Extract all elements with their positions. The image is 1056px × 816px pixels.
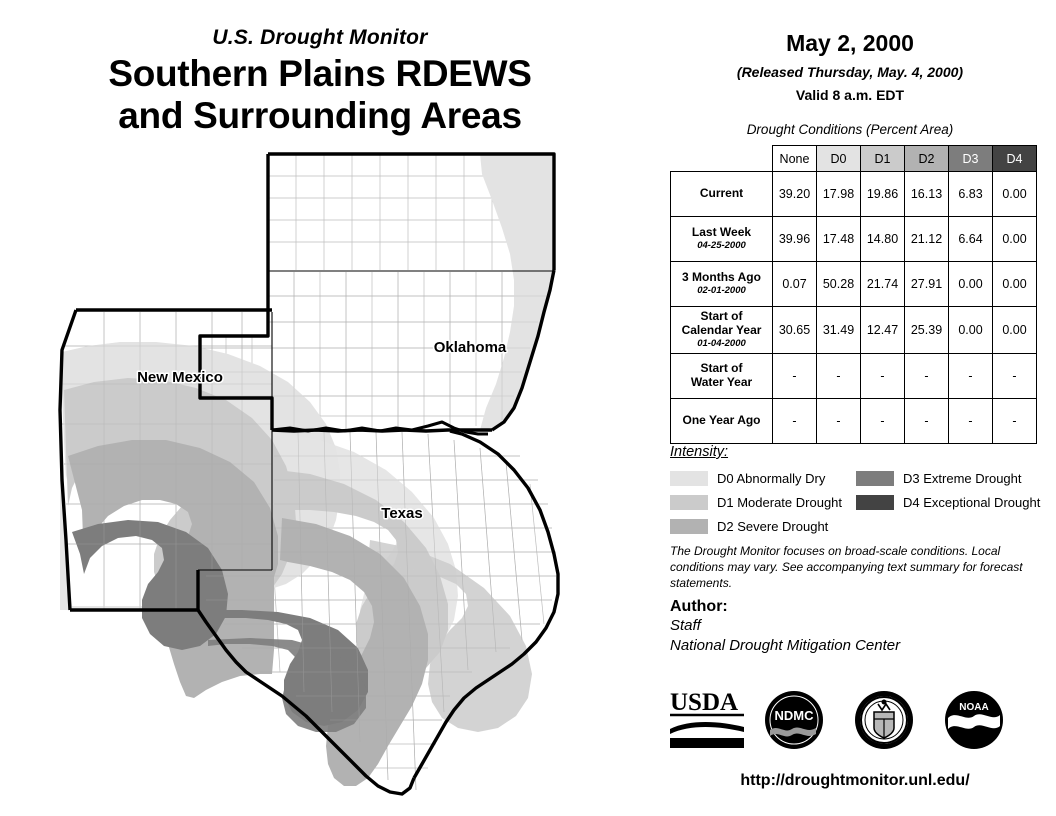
intensity-heading: Intensity: <box>670 444 728 460</box>
table-row: Start ofWater Year------ <box>671 353 1037 398</box>
legend-label-d3: D3 Extreme Drought <box>903 471 1022 486</box>
cell-d2: 25.39 <box>905 307 949 354</box>
table-row: Last Week04-25-200039.9617.4814.8021.126… <box>671 217 1037 262</box>
legend-item-d2: D2 Severe Drought <box>670 514 842 538</box>
cell-d2: - <box>905 398 949 443</box>
page-title: Southern Plains RDEWS and Surrounding Ar… <box>0 53 640 136</box>
legend-column-left: D0 Abnormally DryD1 Moderate DroughtD2 S… <box>670 466 842 538</box>
row-label: Start ofWater Year <box>671 353 773 398</box>
row-label: 3 Months Ago02-01-2000 <box>671 262 773 307</box>
table-header-row: None D0 D1 D2 D3 D4 <box>671 146 1037 172</box>
legend-column-right: D3 Extreme DroughtD4 Exceptional Drought <box>856 466 1040 514</box>
cell-d0: 17.48 <box>817 217 861 262</box>
cell-d2: 16.13 <box>905 172 949 217</box>
cell-none: - <box>773 353 817 398</box>
table-body: Current39.2017.9819.8616.136.830.00Last … <box>671 172 1037 444</box>
cell-d3: 6.64 <box>949 217 993 262</box>
row-label: Start ofCalendar Year01-04-2000 <box>671 307 773 354</box>
cell-d4: - <box>993 353 1037 398</box>
column-header-d1: D1 <box>861 146 905 172</box>
cell-d1: - <box>861 353 905 398</box>
cell-d0: 17.98 <box>817 172 861 217</box>
cell-d3: - <box>949 353 993 398</box>
author-name: Staff <box>670 616 1040 636</box>
row-label: Last Week04-25-2000 <box>671 217 773 262</box>
cell-d1: - <box>861 398 905 443</box>
cell-none: 39.96 <box>773 217 817 262</box>
column-header-none: None <box>773 146 817 172</box>
cell-none: 39.20 <box>773 172 817 217</box>
legend-item-d1: D1 Moderate Drought <box>670 490 842 514</box>
cell-d1: 19.86 <box>861 172 905 217</box>
legend-swatch-d1 <box>670 495 708 510</box>
drought-conditions-table: None D0 D1 D2 D3 D4 Current39.2017.9819.… <box>670 145 1037 444</box>
table-row: One Year Ago------ <box>671 398 1037 443</box>
map-panel: U.S. Drought Monitor Southern Plains RDE… <box>0 0 660 816</box>
usda-logo: USDA <box>668 688 748 757</box>
column-header-d0: D0 <box>817 146 861 172</box>
cell-none: - <box>773 398 817 443</box>
cell-d3: 0.00 <box>949 262 993 307</box>
svg-text:NOAA: NOAA <box>959 702 988 713</box>
released-line: (Released Thursday, May. 4, 2000) <box>660 64 1040 80</box>
column-header-d3: D3 <box>949 146 993 172</box>
cell-d0: - <box>817 353 861 398</box>
cell-d4: 0.00 <box>993 262 1037 307</box>
info-panel: May 2, 2000 (Released Thursday, May. 4, … <box>660 0 1056 816</box>
legend-label-d1: D1 Moderate Drought <box>717 495 842 510</box>
author-block: Author: Staff National Drought Mitigatio… <box>670 598 1040 655</box>
cell-d0: - <box>817 398 861 443</box>
cell-d1: 14.80 <box>861 217 905 262</box>
title-block: U.S. Drought Monitor Southern Plains RDE… <box>0 26 640 136</box>
cell-none: 30.65 <box>773 307 817 354</box>
ndmc-logo: NDMC <box>762 688 826 757</box>
svg-text:USDA: USDA <box>670 689 738 716</box>
legend-swatch-d3 <box>856 471 894 486</box>
legend-label-d4: D4 Exceptional Drought <box>903 495 1040 510</box>
legend-item-d0: D0 Abnormally Dry <box>670 466 842 490</box>
map-label-texas: Texas <box>381 505 422 522</box>
cell-d4: 0.00 <box>993 307 1037 354</box>
cell-none: 0.07 <box>773 262 817 307</box>
cell-d4: 0.00 <box>993 217 1037 262</box>
cell-d1: 21.74 <box>861 262 905 307</box>
column-header-d2: D2 <box>905 146 949 172</box>
column-header-d4: D4 <box>993 146 1037 172</box>
cell-d3: 6.83 <box>949 172 993 217</box>
cell-d3: - <box>949 398 993 443</box>
cell-d1: 12.47 <box>861 307 905 354</box>
legend-swatch-d2 <box>670 519 708 534</box>
legend-swatch-d0 <box>670 471 708 486</box>
cell-d4: 0.00 <box>993 172 1037 217</box>
cell-d0: 31.49 <box>817 307 861 354</box>
row-label-date: 04-25-2000 <box>673 241 770 252</box>
row-label-date: 02-01-2000 <box>673 286 770 297</box>
legend-item-d3: D3 Extreme Drought <box>856 466 1040 490</box>
drought-map: New Mexico Oklahoma Texas <box>10 140 658 800</box>
cell-d2: - <box>905 353 949 398</box>
author-organization: National Drought Mitigation Center <box>670 636 1040 656</box>
svg-text:NDMC: NDMC <box>775 708 815 723</box>
author-heading: Author: <box>670 598 1040 616</box>
legend-label-d2: D2 Severe Drought <box>717 519 828 534</box>
legend-swatch-d4 <box>856 495 894 510</box>
title-line-2: and Surrounding Areas <box>0 95 640 136</box>
row-label: One Year Ago <box>671 398 773 443</box>
title-line-1: Southern Plains RDEWS <box>0 53 640 94</box>
cell-d0: 50.28 <box>817 262 861 307</box>
row-label: Current <box>671 172 773 217</box>
legend-item-d4: D4 Exceptional Drought <box>856 490 1040 514</box>
valid-line: Valid 8 a.m. EDT <box>660 87 1040 103</box>
cell-d2: 27.91 <box>905 262 949 307</box>
logo-row: USDA NDMC <box>660 688 1050 758</box>
cell-d3: 0.00 <box>949 307 993 354</box>
table-caption: Drought Conditions (Percent Area) <box>660 122 1040 137</box>
map-label-oklahoma: Oklahoma <box>434 339 507 356</box>
disclaimer-text: The Drought Monitor focuses on broad-sca… <box>670 543 1040 592</box>
table-row: 3 Months Ago02-01-20000.0750.2821.7427.9… <box>671 262 1037 307</box>
website-url[interactable]: http://droughtmonitor.unl.edu/ <box>660 772 1050 790</box>
cell-d4: - <box>993 398 1037 443</box>
map-label-new-mexico: New Mexico <box>137 369 223 386</box>
supertitle: U.S. Drought Monitor <box>0 26 640 49</box>
table-row: Current39.2017.9819.8616.136.830.00 <box>671 172 1037 217</box>
table-row: Start ofCalendar Year01-04-200030.6531.4… <box>671 307 1037 354</box>
table-corner-cell <box>671 146 773 172</box>
legend-label-d0: D0 Abnormally Dry <box>717 471 825 486</box>
cell-d2: 21.12 <box>905 217 949 262</box>
noaa-logo: NOAA <box>942 688 1006 757</box>
row-label-date: 01-04-2000 <box>673 339 770 350</box>
usdc-seal-logo <box>852 688 916 757</box>
release-date: May 2, 2000 <box>660 30 1040 57</box>
